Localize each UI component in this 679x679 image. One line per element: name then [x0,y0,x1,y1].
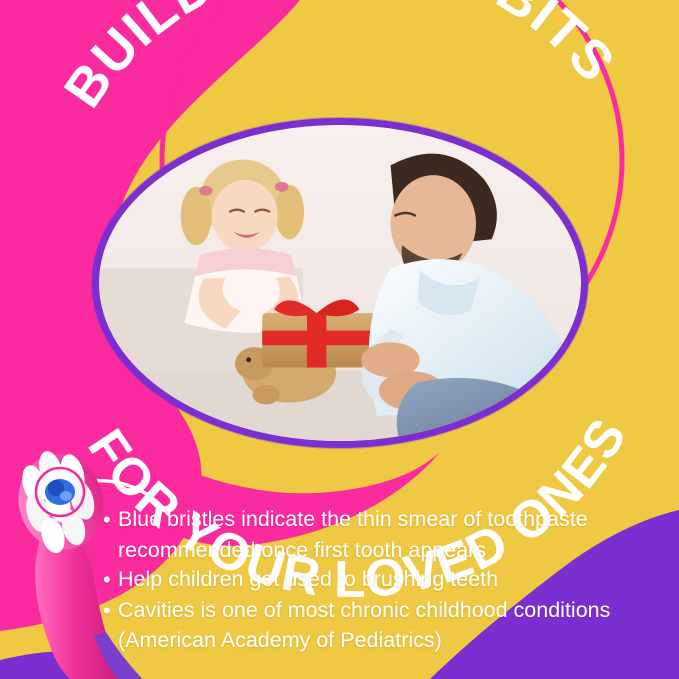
gift-ribbon-horizontal [262,331,386,346]
bullet-text-1-cont: recommended once first tooth appears [118,536,675,566]
photo-oval-border [92,118,588,448]
photo-oval [92,118,588,448]
bullet-marker: • [103,505,118,535]
teddy-paw [253,385,280,404]
girl-hairtie-right [275,182,289,192]
poster-canvas: BUILD GOOD HABITS FOR YOUR LOVED ONES [0,0,679,679]
bullet-text-3: Cavities is one of most chronic childhoo… [118,596,675,626]
girl-hairtie-left [199,186,213,196]
list-item: • Blue bristles indicate the thin smear … [103,505,675,535]
list-item: • Help children get used to brushing tee… [103,565,675,595]
girl-pigtail-left [181,187,212,245]
bullet-text-1: Blue bristles indicate the thin smear of… [118,505,675,535]
bullet-list: • Blue bristles indicate the thin smear … [103,505,675,656]
bullet-text-3-cont: (American Academy of Pediatrics) [118,626,675,656]
family-photo [99,125,581,441]
girl-pigtail-right [275,185,304,239]
bullet-marker: • [103,596,118,626]
bullet-marker: • [103,565,118,595]
man-jeans [397,378,581,441]
girl-face [212,180,278,252]
bullet-text-2: Help children get used to brushing teeth [118,565,675,595]
teddy-eye [246,357,251,362]
list-item: • Cavities is one of most chronic childh… [103,596,675,626]
